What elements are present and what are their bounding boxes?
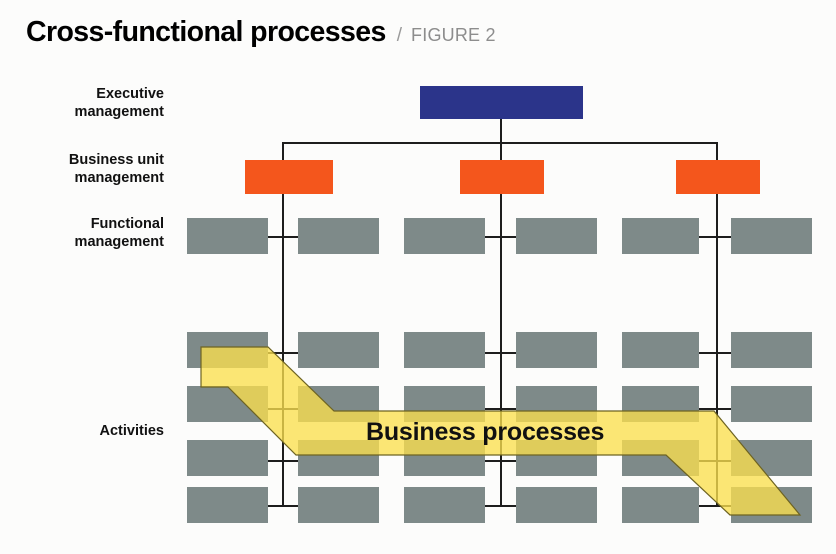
connector-stub-activity-row2-center [483,408,519,410]
node-functional-5 [622,218,699,254]
row-label-business-unit-line1: Business unit [14,152,164,170]
node-functional-2 [298,218,379,254]
node-activity-r2-c4 [516,386,597,422]
connector-stub-activity-row1-right [699,352,735,354]
figure-container: Cross-functional processes / FIGURE 2 Ex… [0,0,836,554]
node-activity-r2-c5 [622,386,699,422]
connector-stub-functional-right [699,236,735,238]
connector-stub-functional-left [265,236,301,238]
node-activity-r2-c6 [731,386,812,422]
row-label-functional-line1: Functional [14,216,164,234]
figure-number-label: FIGURE 2 [411,25,496,46]
node-activity-r1-c2 [298,332,379,368]
node-functional-3 [404,218,485,254]
connector-stub-activity-row3-center [483,460,519,462]
row-label-executive: Executive management [14,86,164,121]
node-activity-r4-c1 [187,487,268,523]
business-process-label: Business processes [366,418,604,447]
node-activity-r1-c4 [516,332,597,368]
row-label-functional: Functional management [14,216,164,251]
figure-title: Cross-functional processes / FIGURE 2 [26,16,496,49]
node-activity-r4-c3 [404,487,485,523]
node-activity-r2-c2 [298,386,379,422]
node-executive-management [420,86,583,119]
node-activity-r1-c5 [622,332,699,368]
connector-spine-left [282,142,284,505]
node-business-unit-2 [460,160,544,194]
row-label-functional-line2: management [14,234,164,252]
node-functional-1 [187,218,268,254]
node-activity-r1-c6 [731,332,812,368]
node-activity-r2-c1 [187,386,268,422]
row-label-business-unit: Business unit management [14,152,164,187]
row-label-activities-line1: Activities [14,423,164,441]
node-activity-r4-c4 [516,487,597,523]
node-business-unit-1 [245,160,333,194]
node-activity-r3-c5 [622,440,699,476]
connector-stub-activity-row1-left [265,352,301,354]
connector-stub-activity-row3-right [699,460,735,462]
connector-stub-activity-row4-left [265,505,301,507]
row-label-executive-line2: management [14,104,164,122]
node-functional-4 [516,218,597,254]
node-functional-6 [731,218,812,254]
connector-stub-activity-row2-left [265,408,301,410]
row-label-business-unit-line2: management [14,170,164,188]
connector-stub-activity-row4-center [483,505,519,507]
node-activity-r1-c1 [187,332,268,368]
node-activity-r4-c2 [298,487,379,523]
connector-spine-center [500,142,502,505]
connector-exec-stem [500,118,502,144]
page-title: Cross-functional processes [26,16,386,49]
title-separator: / [397,25,402,47]
node-activity-r2-c3 [404,386,485,422]
node-activity-r1-c3 [404,332,485,368]
node-activity-r4-c5 [622,487,699,523]
connector-stub-activity-row4-right [699,505,735,507]
node-business-unit-3 [676,160,760,194]
node-activity-r3-c6 [731,440,812,476]
connector-stub-activity-row3-left [265,460,301,462]
row-label-activities: Activities [14,423,164,441]
node-activity-r4-c6 [731,487,812,523]
node-activity-r3-c1 [187,440,268,476]
connector-stub-activity-row2-right [699,408,735,410]
connector-stub-functional-center [483,236,519,238]
connector-stub-activity-row1-center [483,352,519,354]
row-label-executive-line1: Executive [14,86,164,104]
connector-spine-right [716,142,718,505]
